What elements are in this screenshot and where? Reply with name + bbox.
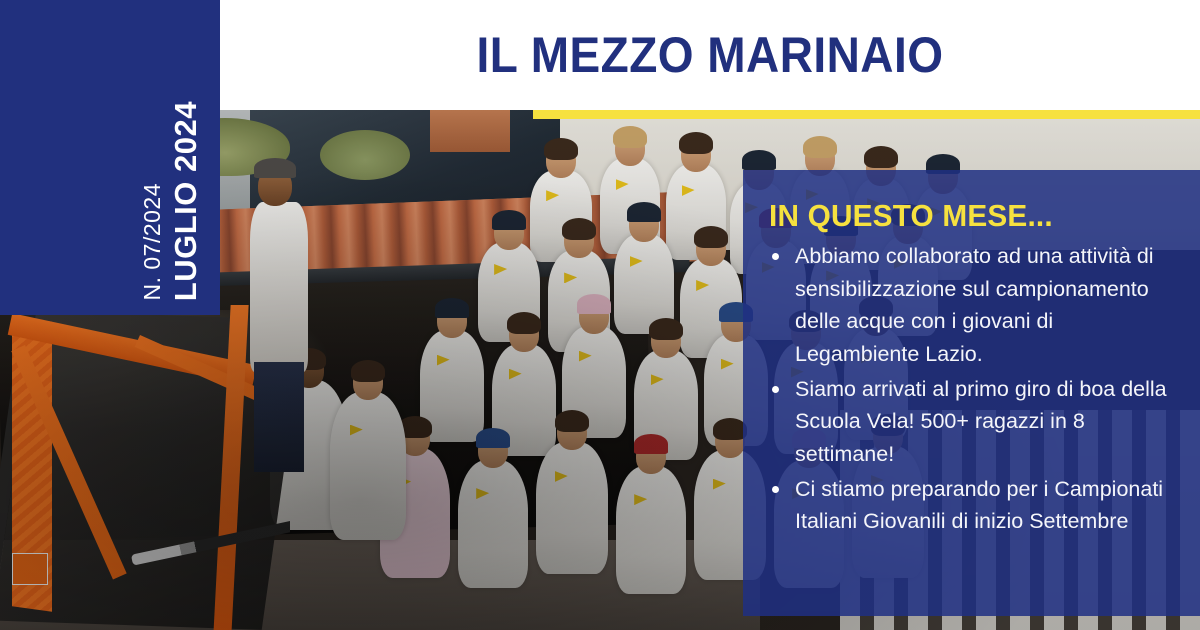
highlights-panel: IN QUESTO MESE... Abbiamo collaborato ad… [743,170,1200,616]
highlights-heading: IN QUESTO MESE... [769,198,1162,234]
list-item-text: Siamo arrivati al primo giro di boa dell… [795,377,1167,466]
bullet-icon [772,386,779,393]
accent-rule [533,110,1200,119]
issue-month: LUGLIO 2024 [168,101,204,301]
sail-size-label [12,553,48,585]
newsletter-cover: IL MEZZO MARINAIO N. 07/2024 LUGLIO 2024… [0,0,1200,630]
list-item: Siamo arrivati al primo giro di boa dell… [791,373,1178,471]
windsurf-sail [0,305,290,630]
photo-instructor [250,150,308,440]
bullet-icon [772,253,779,260]
issue-number: N. 07/2024 [139,183,166,301]
page-title: IL MEZZO MARINAIO [259,0,1161,110]
instructor-shirt [250,202,308,372]
list-item-text: Ci stiamo preparando per i Campionati It… [795,477,1163,534]
issue-date-stack: N. 07/2024 LUGLIO 2024 [0,0,220,315]
instructor-cap [254,158,296,178]
highlights-list: Abbiamo collaborato ad una attività di s… [769,240,1178,538]
list-item: Ci stiamo preparando per i Campionati It… [791,473,1178,538]
instructor-shorts [254,362,304,472]
list-item: Abbiamo collaborato ad una attività di s… [791,240,1178,371]
list-item-text: Abbiamo collaborato ad una attività di s… [795,244,1154,366]
bullet-icon [772,486,779,493]
issue-panel: N. 07/2024 LUGLIO 2024 [0,0,220,315]
